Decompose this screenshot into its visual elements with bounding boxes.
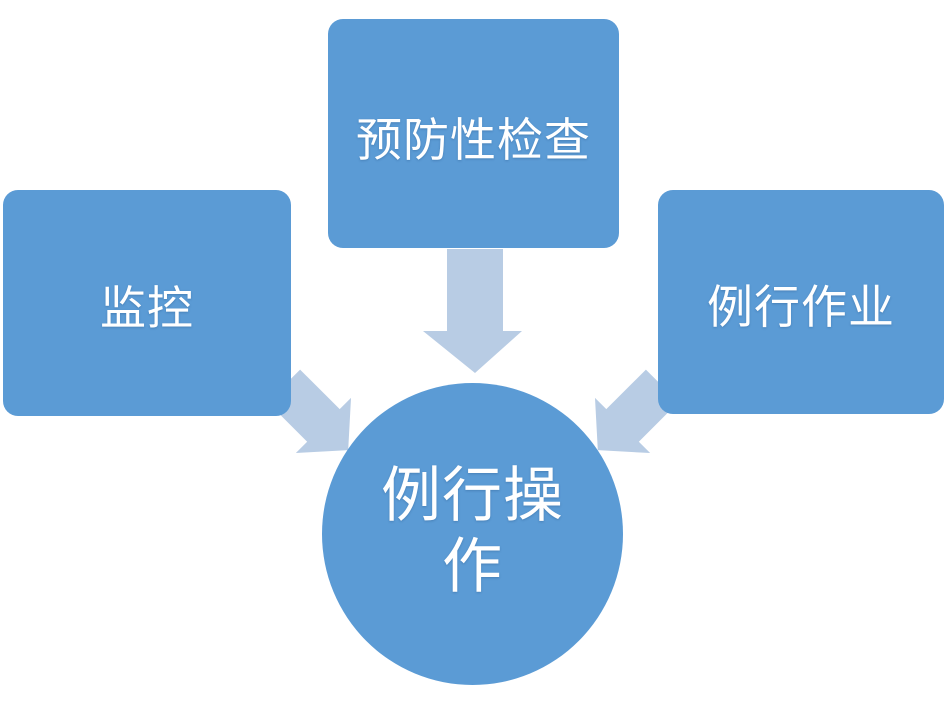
node-routine-work-label: 例行作业: [707, 279, 895, 335]
node-routine-operation[interactable]: 例行操作: [322, 383, 623, 685]
node-monitoring[interactable]: 监控: [3, 190, 291, 416]
node-preventive-inspection-label: 预防性检查: [356, 112, 591, 168]
node-monitoring-label: 监控: [100, 280, 194, 336]
node-routine-work[interactable]: 例行作业: [658, 190, 944, 414]
node-preventive-inspection[interactable]: 预防性检查: [328, 19, 619, 248]
diagram-canvas: 预防性检查 监控 例行作业 例行操作: [0, 0, 948, 705]
node-routine-operation-label: 例行操作: [373, 461, 573, 603]
arrow-down-icon: [423, 249, 522, 373]
